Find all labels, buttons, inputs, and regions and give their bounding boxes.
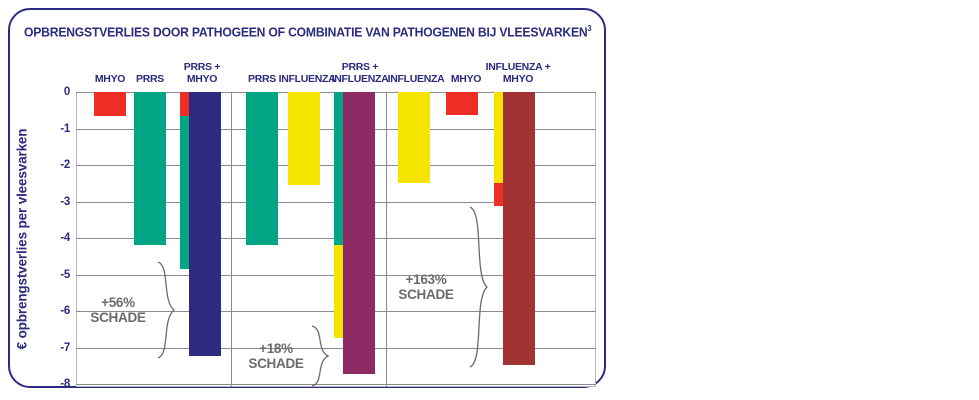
brace-g2 [304,324,336,388]
ytick-label-m7: -7 [60,342,70,354]
ytick-label-m1: -1 [60,123,70,135]
category-label-g1-prrs-mhyo: PRRS + MHYO [184,62,220,85]
y-axis-title-label: € opbrengstverlies per vleesvarken [15,129,30,350]
category-label-g3-influenza-mhyo: INFLUENZA + MHYO [486,62,551,85]
annotation-g2: +18% SCHADE [248,341,303,371]
bar-g1-prrs-mhyo[interactable] [189,92,221,356]
bar-g1-mhyo[interactable] [94,92,126,116]
bar-g3-mhyo[interactable] [446,92,478,115]
gridline-m8: -8 [76,384,596,385]
ytick-label-0: 0 [64,86,70,98]
ytick-label-m8: -8 [60,378,70,390]
ytick-label-m2: -2 [60,159,70,171]
category-label-g1-mhyo: MHYO [95,74,125,86]
bar-g2-prrs[interactable] [246,92,278,245]
ytick-label-m6: -6 [60,305,70,317]
y-axis-title: € opbrengstverlies per vleesvarken [12,100,32,378]
brace-g1 [148,260,184,360]
bar-g1-prrs[interactable] [134,92,166,245]
bar-g2-influenza[interactable] [288,92,320,185]
page-title-footnote-marker: 3 [587,24,591,33]
ytick-label-m3: -3 [60,196,70,208]
group-separator-2 [386,92,387,387]
category-label-g2-prrs: PRRS [248,74,276,86]
page-title-text: OPBRENGSTVERLIES DOOR PATHOGEEN OF COMBI… [24,24,587,39]
annotation-g1: +56% SCHADE [90,295,145,325]
bar-g2-prrs-influenza[interactable] [343,92,375,374]
brace-g3 [460,205,496,369]
chart-screenshot: OPBRENGSTVERLIES DOOR PATHOGEEN OF COMBI… [0,0,979,400]
category-label-g3-influenza: INFLUENZA [388,74,445,86]
category-label-g1-prrs: PRRS [136,74,164,86]
plot-area: 0 -1 -2 -3 -4 -5 -6 -7 -8 [76,92,596,387]
bar-g3-influenza-mhyo[interactable] [503,92,535,365]
group-separator-1 [231,92,232,387]
bar-g3-influenza[interactable] [398,92,430,183]
category-label-g2-prrs-influenza: PRRS + INFLUENZA [332,62,389,85]
page-title: OPBRENGSTVERLIES DOOR PATHOGEEN OF COMBI… [24,24,591,39]
ytick-label-m5: -5 [60,269,70,281]
annotation-g3: +163% SCHADE [398,272,453,302]
category-label-g2-influenza: INFLUENZA [279,74,336,86]
category-label-g3-mhyo: MHYO [451,74,481,86]
ytick-label-m4: -4 [60,232,70,244]
